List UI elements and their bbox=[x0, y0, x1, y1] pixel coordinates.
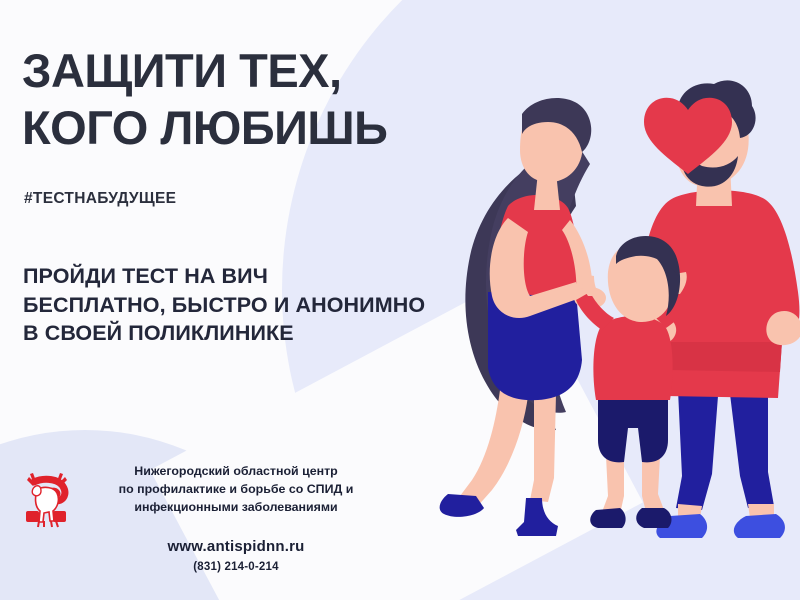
website-link[interactable]: www.antispidnn.ru bbox=[86, 538, 386, 555]
phone-number[interactable]: (831) 214-0-214 bbox=[86, 561, 386, 573]
organization-name: Нижегородский областной центр по профила… bbox=[86, 463, 386, 517]
footer-org-row: Нижегородский областной центр по профила… bbox=[20, 463, 420, 531]
page-title: ЗАЩИТИ ТЕХ, КОГО ЛЮБИШЬ bbox=[22, 42, 522, 157]
deer-emblem-icon bbox=[20, 469, 74, 531]
campaign-hashtag: #ТЕСТНАБУДУЩЕЕ bbox=[24, 190, 176, 208]
poster-root: ЗАЩИТИ ТЕХ, КОГО ЛЮБИШЬ #ТЕСТНАБУДУЩЕЕ П… bbox=[0, 0, 800, 600]
footer: Нижегородский областной центр по профила… bbox=[20, 463, 420, 573]
campaign-body-text: ПРОЙДИ ТЕСТ НА ВИЧ БЕСПЛАТНО, БЫСТРО И А… bbox=[23, 262, 543, 348]
